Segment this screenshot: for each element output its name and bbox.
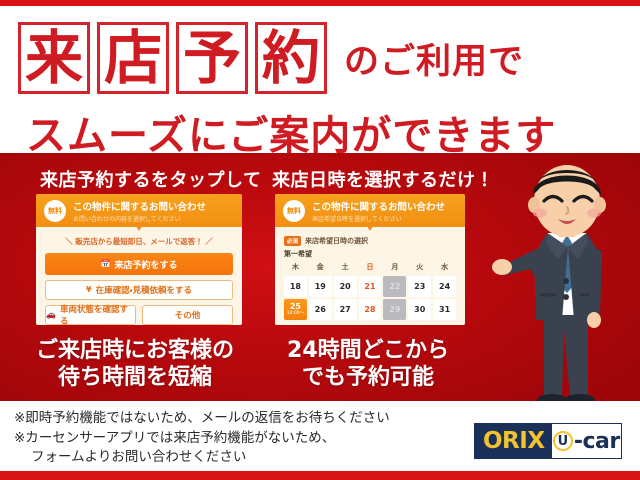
preference-label: 第一希望 — [284, 249, 456, 259]
date-field-label: 来店希望日時の選択 — [305, 236, 368, 246]
mock-left-body: ＼ 販売店から最短即日、メールで返答！ ／ 📅 来店予約をする ¥ 在庫確認・見… — [36, 227, 242, 325]
orix-wordmark: ORIX — [475, 428, 552, 454]
orix-ucar-logo: ORIX U -car — [474, 423, 622, 459]
mock-left-header-title: この物件に関するお問い合わせ — [73, 199, 206, 213]
calendar-day-cell[interactable]: 23 — [408, 276, 431, 297]
benefit-left-line-2: 待ち時間を短縮 — [25, 365, 245, 392]
benefit-caption-left: ご来店時にお客様の 待ち時間を短縮 — [25, 338, 245, 392]
mock-right-header-text: この物件に関するお問い合わせ 来店希望日時を選択してください — [312, 199, 445, 223]
calendar-weekday-header: 木 金 土 日 月 火 水 — [284, 262, 456, 274]
vehicle-condition-label: 車両状態を確認する — [60, 303, 135, 325]
weekday-fri: 金 — [309, 262, 332, 274]
calendar-day-cell[interactable]: 24 — [433, 276, 456, 297]
calendar-day-cell[interactable]: 27 — [334, 299, 357, 320]
headline-row-1: 来 店 予 約 のご利用で — [18, 22, 524, 94]
weekday-tue: 火 — [408, 262, 431, 274]
stock-quote-button[interactable]: ¥ 在庫確認・見積依頼をする — [45, 280, 233, 300]
bottom-red-rule — [0, 471, 640, 480]
benefit-caption-right: 24時間どこから でも予約可能 — [263, 338, 473, 392]
calendar-icon: 📅 — [101, 260, 111, 268]
yen-icon: ¥ — [86, 286, 92, 294]
visit-reservation-banner: 来 店 予 約 のご利用で スムーズにご案内ができます 来店予約するをタップして… — [0, 0, 640, 480]
calendar-day-cell-selected[interactable]: 25 14:00～ — [284, 299, 307, 320]
headline-kanji-box-2: 店 — [97, 22, 169, 94]
reserve-visit-button[interactable]: 📅 来店予約をする — [45, 253, 233, 275]
weekday-sun: 日 — [359, 262, 382, 274]
footer-note-3: フォームよりお問い合わせください — [14, 448, 390, 468]
calendar-day-cell: 22 — [383, 276, 406, 297]
other-label: その他 — [175, 309, 201, 321]
reserve-visit-label: 来店予約をする — [114, 258, 177, 271]
calendar-day-cell[interactable]: 31 — [433, 299, 456, 320]
vehicle-condition-button[interactable]: 🚗 車両状態を確認する — [45, 305, 136, 325]
date-field-label-row: 必須 来店希望日時の選択 — [284, 236, 456, 246]
right-panel-title: 来店日時を選択するだけ！ — [272, 166, 494, 192]
free-badge-right: 無料 — [283, 200, 305, 222]
calendar-day-cell[interactable]: 21 — [359, 276, 382, 297]
calendar-day-cell[interactable]: 19 — [309, 276, 332, 297]
ucar-u-badge: U — [553, 431, 573, 451]
top-red-rule — [0, 0, 640, 6]
mock-left-header: 無料 この物件に関するお問い合わせ お問い合わせの内容を選択してください — [36, 194, 242, 227]
calendar-day-cell[interactable]: 18 — [284, 276, 307, 297]
benefit-right-line-2: でも予約可能 — [263, 365, 473, 392]
secondary-button-row: 🚗 車両状態を確認する その他 — [45, 305, 233, 325]
mock-left-header-text: この物件に関するお問い合わせ お問い合わせの内容を選択してください — [73, 199, 206, 223]
mock-right-header-sub: 来店希望日時を選択してください — [312, 214, 445, 223]
calendar-day-cell[interactable]: 28 — [359, 299, 382, 320]
weekday-wed: 水 — [433, 262, 456, 274]
mock-right-header: 無料 この物件に関するお問い合わせ 来店希望日時を選択してください — [275, 194, 465, 227]
selected-day-number: 25 — [290, 302, 301, 311]
salesman-illustration — [492, 155, 640, 417]
headline-block: 来 店 予 約 のご利用で スムーズにご案内ができます — [0, 8, 640, 153]
benefit-right-line-1: 24時間どこから — [263, 338, 473, 365]
footer-note-2: ※カーセンサーアプリでは来店予約機能がないため、 — [14, 429, 390, 449]
free-badge-left: 無料 — [44, 200, 66, 222]
stock-quote-label: 在庫確認・見積依頼をする — [96, 284, 192, 296]
calendar-day-cell: 29 — [383, 299, 406, 320]
benefit-left-line-1: ご来店時にお客様の — [25, 338, 245, 365]
ucar-wordmark: U -car — [552, 424, 621, 458]
weekday-sat: 土 — [334, 262, 357, 274]
headline-kanji-3: 予 — [183, 29, 241, 87]
fast-reply-note: ＼ 販売店から最短即日、メールで返答！ ／ — [45, 236, 233, 247]
headline-kanji-1: 来 — [25, 29, 83, 87]
date-picker-mockup: 無料 この物件に関するお問い合わせ 来店希望日時を選択してください 必須 来店希… — [275, 194, 465, 325]
calendar-day-cell[interactable]: 30 — [408, 299, 431, 320]
car-icon: 🚗 — [46, 311, 56, 319]
other-button[interactable]: その他 — [142, 305, 233, 325]
left-panel-title: 来店予約するをタップして — [40, 166, 261, 192]
mock-right-header-title: この物件に関するお問い合わせ — [312, 199, 445, 213]
headline-tail-text: のご利用で — [344, 33, 524, 84]
headline-kanji-box-1: 来 — [18, 22, 90, 94]
selected-day-time: 14:00～ — [287, 312, 304, 317]
ucar-car-text: -car — [574, 429, 620, 454]
calendar-day-cell[interactable]: 26 — [309, 299, 332, 320]
calendar-day-cell[interactable]: 20 — [334, 276, 357, 297]
headline-kanji-2: 店 — [104, 29, 162, 87]
required-badge: 必須 — [284, 236, 301, 246]
footer-disclaimer: ※即時予約機能ではないため、メールの返信をお待ちください ※カーセンサーアプリで… — [14, 409, 390, 468]
weekday-thu: 木 — [284, 262, 307, 274]
calendar-week-1: 18 19 20 21 22 23 24 — [284, 276, 456, 297]
footer-note-1: ※即時予約機能ではないため、メールの返信をお待ちください — [14, 409, 390, 429]
headline-kanji-4: 約 — [262, 29, 320, 87]
mock-right-body: 必須 来店希望日時の選択 第一希望 木 金 土 日 月 火 水 18 19 20 — [275, 227, 465, 320]
weekday-mon: 月 — [383, 262, 406, 274]
mock-left-header-sub: お問い合わせの内容を選択してください — [73, 214, 206, 223]
calendar-week-2: 25 14:00～ 26 27 28 29 30 31 — [284, 299, 456, 320]
headline-kanji-box-4: 約 — [255, 22, 327, 94]
contact-options-mockup: 無料 この物件に関するお問い合わせ お問い合わせの内容を選択してください ＼ 販… — [36, 194, 242, 325]
headline-kanji-box-3: 予 — [176, 22, 248, 94]
